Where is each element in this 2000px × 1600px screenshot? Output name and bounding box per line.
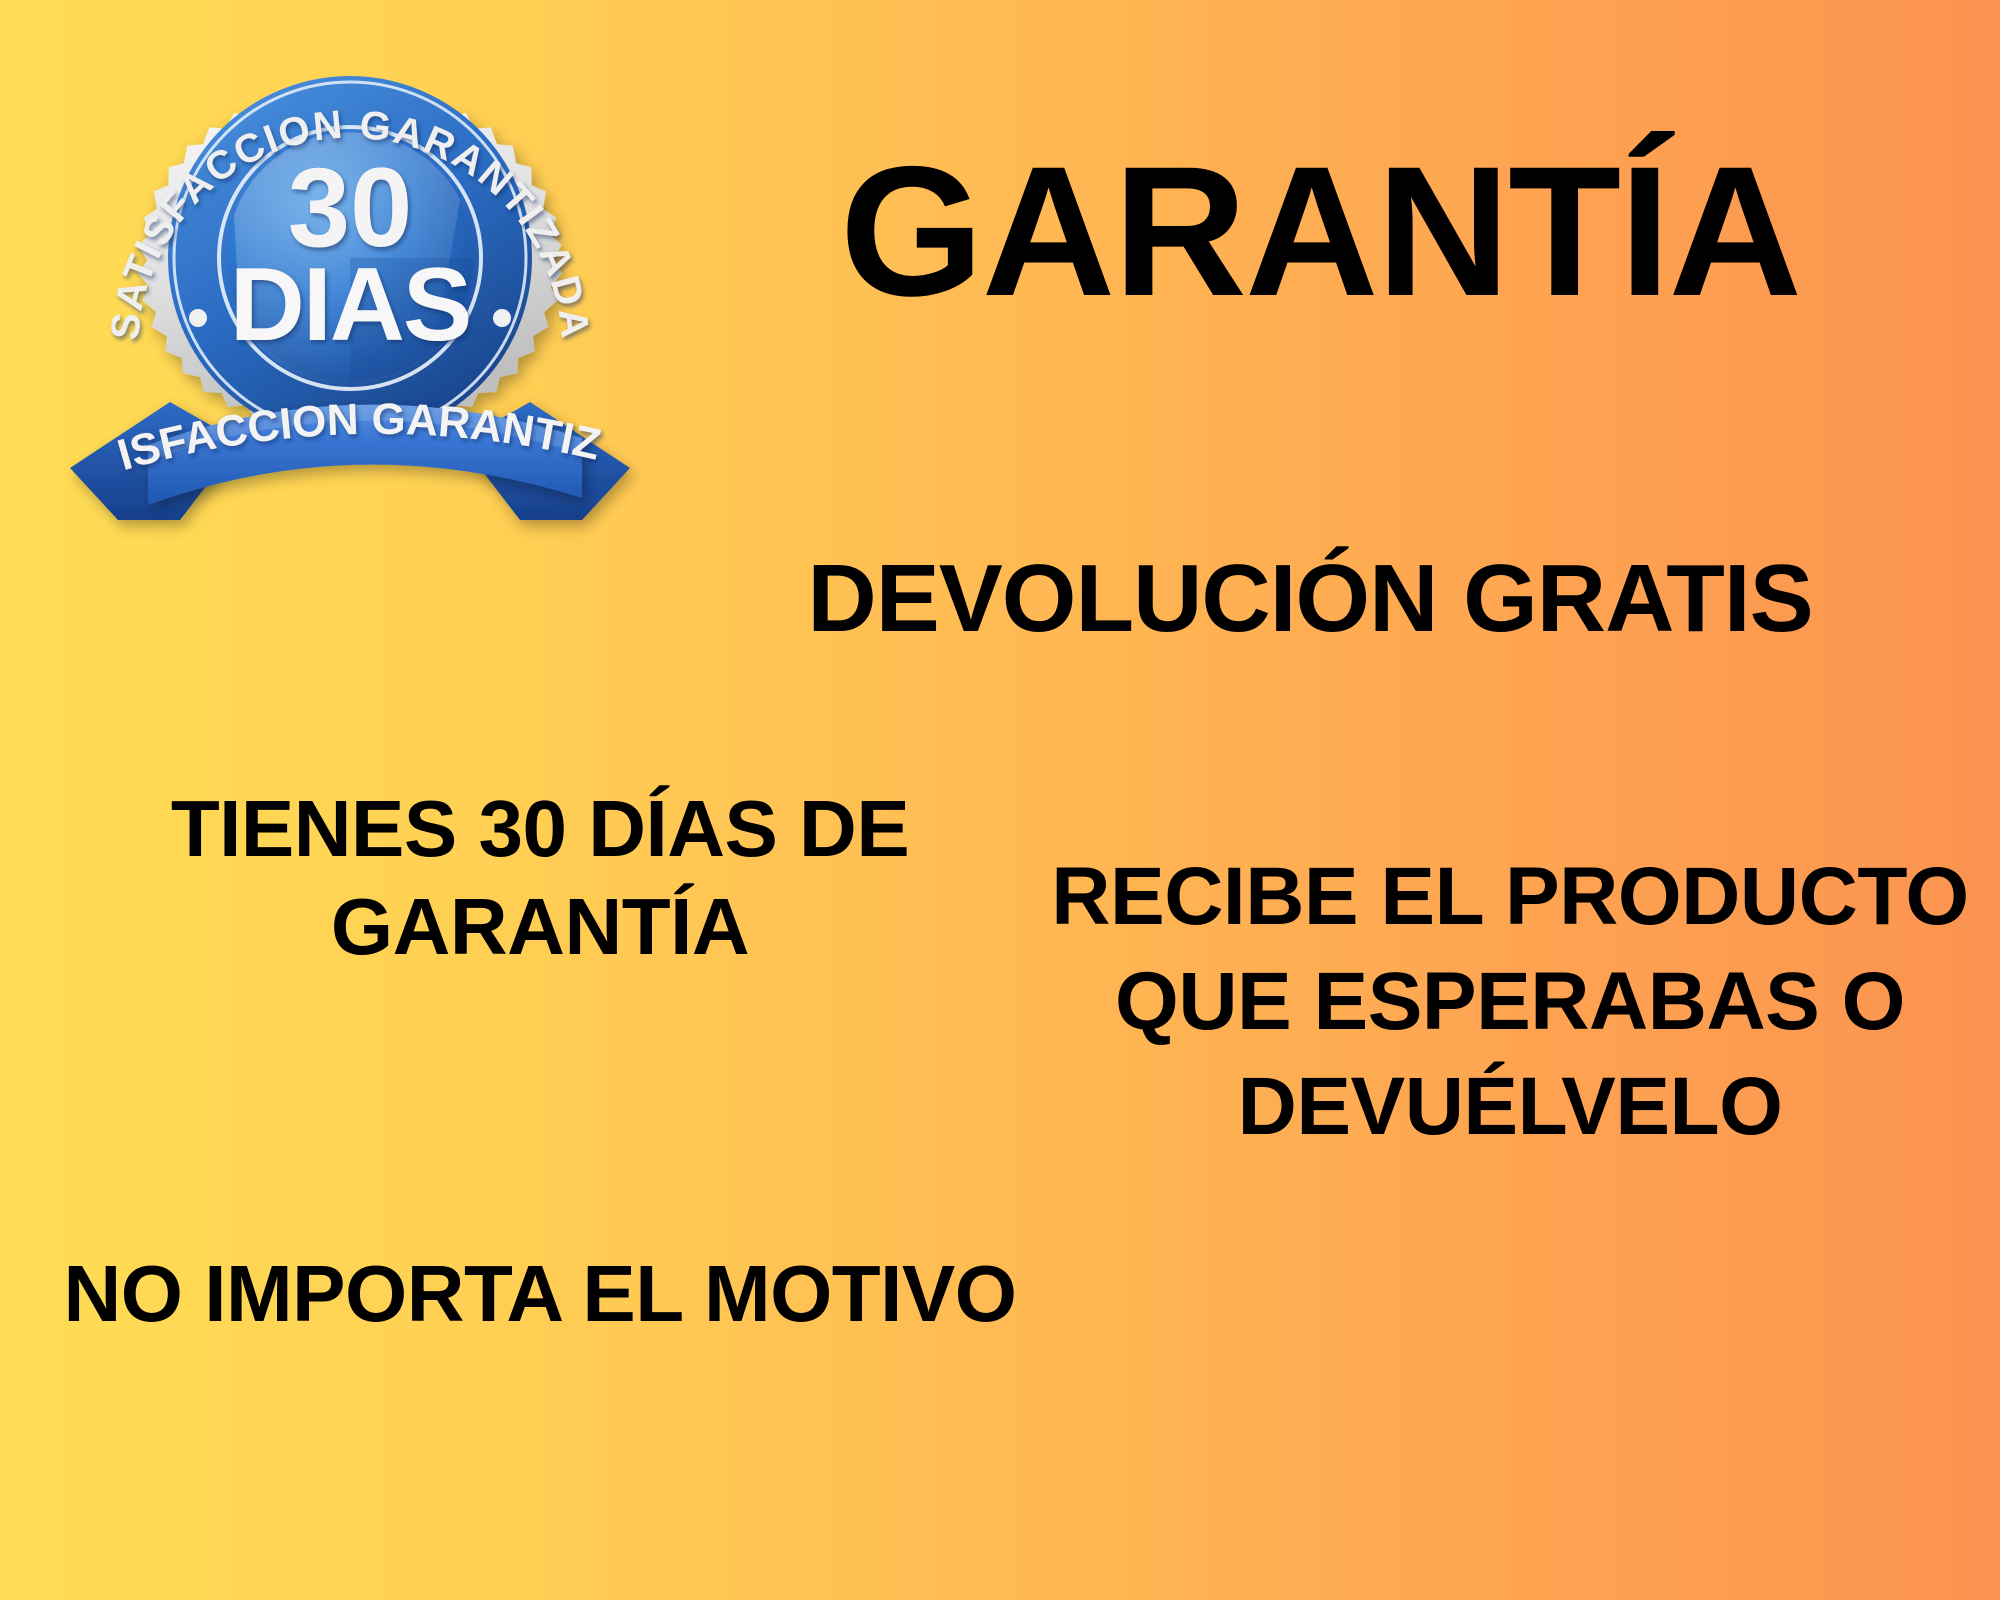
guarantee-poster: SATISFACCION GARANTIZADA 30 DIAS SATISFA… <box>0 0 2000 1600</box>
benefit-text-warranty-days: TIENES 30 DÍAS DE GARANTÍA <box>40 780 1040 975</box>
guarantee-badge: SATISFACCION GARANTIZADA 30 DIAS SATISFA… <box>30 50 670 520</box>
seal-dot-right <box>493 309 511 327</box>
satisfaction-seal-icon: SATISFACCION GARANTIZADA 30 DIAS SATISFA… <box>30 50 670 520</box>
page-title: GARANTÍA <box>660 140 1980 325</box>
benefit-text-expected-product: RECIBE EL PRODUCTO QUE ESPERABAS O DEVUÉ… <box>1030 845 1990 1160</box>
benefit-text-no-reason-needed: NO IMPORTA EL MOTIVO <box>40 1245 1040 1343</box>
page-subtitle: DEVOLUCIÓN GRATIS <box>640 548 1980 650</box>
seal-dot-left <box>189 309 207 327</box>
seal-unit: DIAS <box>230 247 470 363</box>
